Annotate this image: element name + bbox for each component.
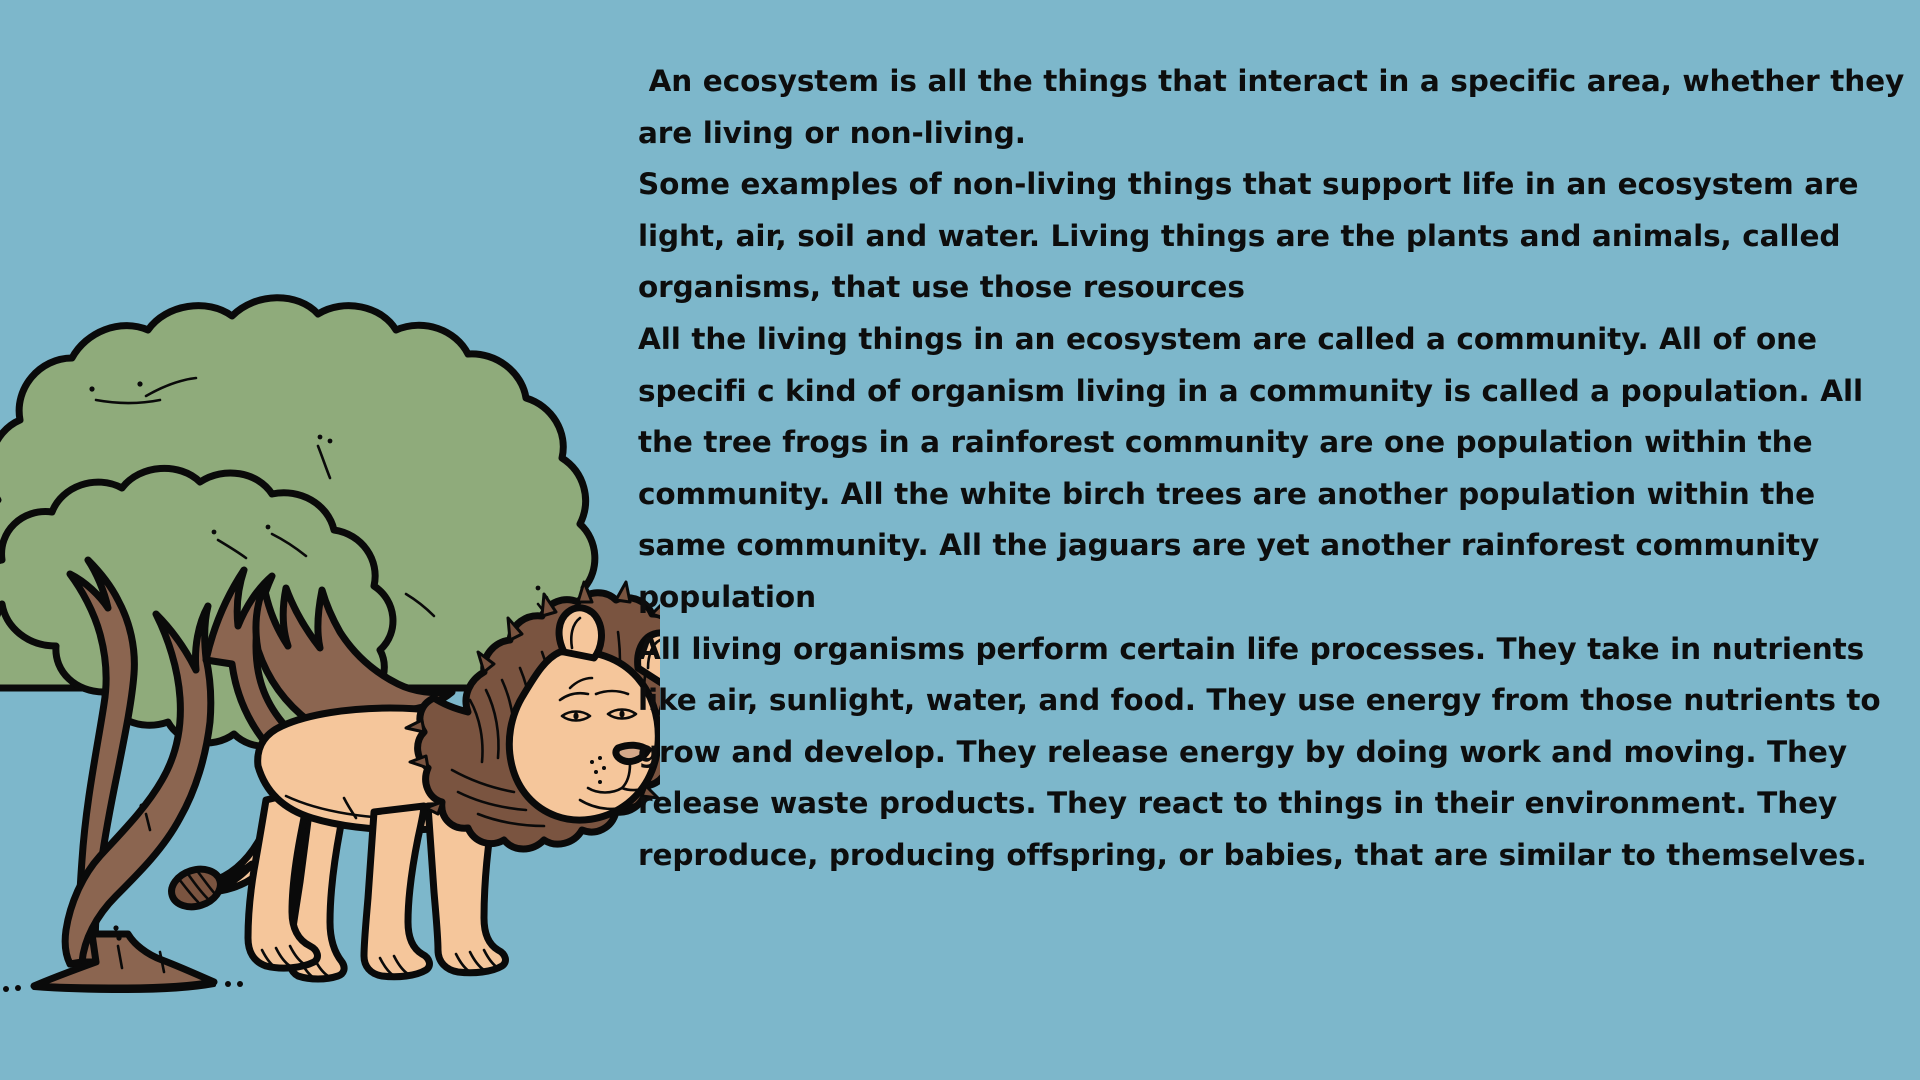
lion-rear-paw-far-toes [300, 958, 328, 978]
lion-ear-near [559, 608, 601, 658]
lion-tail-tuft-lines [179, 872, 217, 902]
lion-mane-fur-lines [452, 632, 660, 826]
lion-belly-line [286, 796, 420, 818]
lion-tail-tuft [167, 863, 226, 913]
lesson-text-body: An ecosystem is all the things that inte… [638, 56, 1910, 882]
lion-mouth-left [588, 788, 622, 793]
tree-trunk-fork [65, 606, 211, 964]
lion-whisker-dots [590, 756, 606, 784]
tree-branch-right [256, 586, 458, 778]
paragraph-2: Some examples of non-living things that … [638, 159, 1910, 314]
lion [167, 582, 660, 979]
lion-body [258, 708, 486, 830]
lion-ear-inner-near [571, 618, 580, 648]
paragraph-1: An ecosystem is all the things that inte… [638, 56, 1910, 159]
tree-trunk-main [70, 560, 134, 962]
trunk-texture-marks [113, 803, 164, 972]
lion-tail [206, 762, 314, 892]
lion-front-leg-near [428, 804, 505, 973]
paragraph-3: All the living things in an ecosystem ar… [638, 314, 1910, 624]
tree-trunk-second [206, 570, 334, 784]
paragraph-4: All living organisms perform certain lif… [638, 624, 1910, 882]
tree-canopy-front [0, 468, 393, 746]
canopy-detail-marks [89, 378, 558, 638]
lion-mouth [622, 764, 630, 788]
lion-front-paw-far-toes [380, 956, 408, 976]
slide-canvas: .ol { stroke:#0a0a0a; stroke-width:7; st… [0, 0, 1920, 1080]
lion-rear-paw-near-toes [262, 946, 304, 968]
lion-rear-leg-near [248, 790, 317, 968]
illustration-svg: .ol { stroke:#0a0a0a; stroke-width:7; st… [0, 0, 660, 1080]
tree-ground-line [3, 981, 243, 992]
lion-brow-marks [560, 678, 628, 700]
lion-shoulder-marks [344, 790, 450, 818]
lion-chin-line [580, 800, 636, 809]
tree-base-flare [34, 934, 214, 988]
tree-canopy-back [0, 298, 595, 688]
lion-front-paw-near-toes [456, 950, 498, 972]
lion-rear-leg-far [289, 786, 346, 979]
lion-face [509, 651, 658, 820]
savanna-illustration: .ol { stroke:#0a0a0a; stroke-width:7; st… [0, 0, 660, 1080]
lion-eyes [562, 710, 636, 721]
lion-front-leg-far [364, 806, 429, 977]
lion-mane-tufts [406, 582, 660, 814]
lion-mane [418, 593, 660, 849]
acacia-tree [0, 298, 595, 992]
